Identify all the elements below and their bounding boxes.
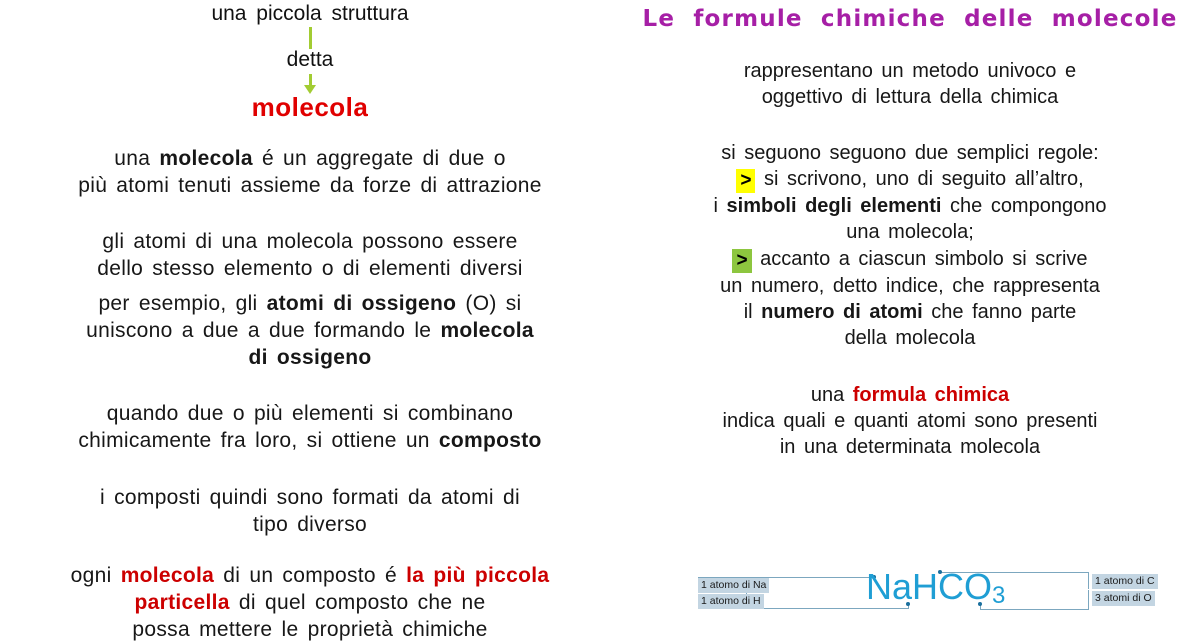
connector-label-detta: detta xyxy=(0,48,620,72)
text-run: indica quali e quanti atomi sono present… xyxy=(723,410,1098,432)
text-line: il numero di atomi che fanno parte xyxy=(620,299,1200,325)
text-run: ogni xyxy=(71,564,121,587)
text-line: in una determinata molecola xyxy=(620,434,1200,460)
text-run: una molecola; xyxy=(846,221,974,243)
text-line: una formula chimica xyxy=(620,382,1200,408)
right-column: Le formule chimiche delle molecole rappr… xyxy=(620,0,1200,630)
left-block-3: quando due o più elementi si combinanoch… xyxy=(0,400,620,454)
text-run: una xyxy=(114,147,159,170)
emphasis-red: molecola xyxy=(121,564,214,587)
text-line: un numero, detto indice, che rappresenta xyxy=(620,273,1200,299)
text-run: di un composto é xyxy=(214,564,406,587)
text-line: gli atomi di una molecola possono essere xyxy=(0,228,620,255)
list-bullet-marker: > xyxy=(736,169,755,193)
emphasis-bold: numero di atomi xyxy=(761,301,923,323)
text-run: della molecola xyxy=(845,327,976,349)
text-run: che compongono xyxy=(941,195,1106,217)
text-run: i xyxy=(714,195,727,217)
callout-line-c-vert xyxy=(1088,572,1089,589)
arrow-stem-upper xyxy=(309,27,312,49)
text-line: della molecola xyxy=(620,325,1200,351)
formula-subscript: 3 xyxy=(992,582,1005,609)
left-column: una piccola struttura detta molecola una… xyxy=(0,0,620,630)
text-line: > si scrivono, uno di seguito all’altro, xyxy=(620,166,1200,193)
text-run: é un aggregate di due o xyxy=(253,147,506,170)
left-top-line: una piccola struttura xyxy=(0,0,620,27)
right-title: Le formule chimiche delle molecole xyxy=(620,6,1200,32)
list-bullet-marker: > xyxy=(732,249,751,273)
slide-canvas: una piccola struttura detta molecola una… xyxy=(0,0,1200,630)
text-line: indica quali e quanti atomi sono present… xyxy=(620,408,1200,434)
keyword-text: molecola xyxy=(252,92,369,122)
text-line: ogni molecola di un composto é la più pi… xyxy=(0,562,620,589)
text-run: per esempio, gli xyxy=(98,292,266,315)
text-run: che fanno parte xyxy=(923,301,1077,323)
emphasis-red: formula chimica xyxy=(853,384,1009,406)
text-line: rappresentano un metodo univoco e xyxy=(620,58,1200,84)
right-block-0: rappresentano un metodo univoco eoggetti… xyxy=(620,58,1200,110)
emphasis-bold: molecola xyxy=(159,147,252,170)
text-run: una xyxy=(811,384,853,406)
text-run: il xyxy=(744,301,761,323)
text-run: rappresentano un metodo univoco e xyxy=(744,60,1076,82)
text-line: più atomi tenuti assieme da forze di att… xyxy=(0,172,620,199)
text-line: di ossigeno xyxy=(0,344,620,371)
left-block-5: ogni molecola di un composto é la più pi… xyxy=(0,562,620,643)
text-line: particella di quel composto che ne xyxy=(0,589,620,616)
text-line: una molecola; xyxy=(620,219,1200,245)
right-block-3: > accanto a ciascun simbolo si scriveun … xyxy=(620,246,1200,351)
chemical-formula: NaHCO3 xyxy=(866,566,1005,610)
text-run: uniscono a due a due formando le xyxy=(86,319,440,342)
right-block-1: si seguono seguono due semplici regole: xyxy=(620,140,1200,166)
right-block-4: una formula chimicaindica quali e quanti… xyxy=(620,382,1200,460)
text-line: tipo diverso xyxy=(0,511,620,538)
nahco3-diagram: NaHCO3 1 atomo di Na 1 atomo di H 1 atom… xyxy=(690,560,1190,630)
left-block-1: gli atomi di una molecola possono essere… xyxy=(0,228,620,282)
emphasis-red: la più piccola xyxy=(406,564,549,587)
right-block-2: > si scrivono, uno di seguito all’altro,… xyxy=(620,166,1200,245)
text-run: si scrivono, uno di seguito all’altro, xyxy=(755,168,1083,190)
left-block-0: una molecola é un aggregate di due opiù … xyxy=(0,145,620,199)
text-line: per esempio, gli atomi di ossigeno (O) s… xyxy=(0,290,620,317)
text-line: uniscono a due a due formando le molecol… xyxy=(0,317,620,344)
text-run: chimicamente fra loro, si ottiene un xyxy=(78,429,439,452)
formula-main: NaHCO xyxy=(866,566,992,607)
text-run: quando due o più elementi si combinano xyxy=(107,402,514,425)
text-run: accanto a ciascun simbolo si scrive xyxy=(752,248,1088,270)
text-line: > accanto a ciascun simbolo si scrive xyxy=(620,246,1200,273)
text-line: i composti quindi sono formati da atomi … xyxy=(0,484,620,511)
emphasis-bold: atomi di ossigeno xyxy=(267,292,457,315)
text-run: si seguono seguono due semplici regole: xyxy=(721,142,1098,164)
text-run: un numero, detto indice, che rappresenta xyxy=(720,275,1100,297)
text-run: dello stesso elemento o di elementi dive… xyxy=(97,257,522,280)
text-run: di quel composto che ne xyxy=(230,591,486,614)
emphasis-bold: simboli degli elementi xyxy=(727,195,942,217)
text-line: i simboli degli elementi che compongono xyxy=(620,193,1200,219)
emphasis-bold: molecola xyxy=(440,319,533,342)
callout-label-na: 1 atomo di Na xyxy=(698,578,769,593)
callout-label-c: 1 atomo di C xyxy=(1092,574,1158,589)
text-run: gli atomi di una molecola possono essere xyxy=(102,230,517,253)
text-run: tipo diverso xyxy=(253,513,367,536)
text-run: in una determinata molecola xyxy=(780,436,1040,458)
callout-line-o-vert xyxy=(1088,590,1089,610)
text-run: oggettivo di lettura della chimica xyxy=(762,86,1059,108)
text-run: più atomi tenuti assieme da forze di att… xyxy=(78,174,542,197)
emphasis-bold: di ossigeno xyxy=(249,346,372,369)
text-line: si seguono seguono due semplici regole: xyxy=(620,140,1200,166)
text-run: i composti quindi sono formati da atomi … xyxy=(100,486,520,509)
text-line: quando due o più elementi si combinano xyxy=(0,400,620,427)
left-block-4: i composti quindi sono formati da atomi … xyxy=(0,484,620,538)
text-line: oggettivo di lettura della chimica xyxy=(620,84,1200,110)
callout-label-h: 1 atomo di H xyxy=(698,594,764,609)
text-line: dello stesso elemento o di elementi dive… xyxy=(0,255,620,282)
left-block-2: per esempio, gli atomi di ossigeno (O) s… xyxy=(0,290,620,371)
text-line: chimicamente fra loro, si ottiene un com… xyxy=(0,427,620,454)
callout-label-o: 3 atomi di O xyxy=(1092,591,1155,606)
emphasis-red: particella xyxy=(135,591,230,614)
text-run: (O) si xyxy=(456,292,521,315)
emphasis-bold: composto xyxy=(439,429,542,452)
text-line: una molecola é un aggregate di due o xyxy=(0,145,620,172)
left-keyword-molecola: molecola xyxy=(0,92,620,123)
